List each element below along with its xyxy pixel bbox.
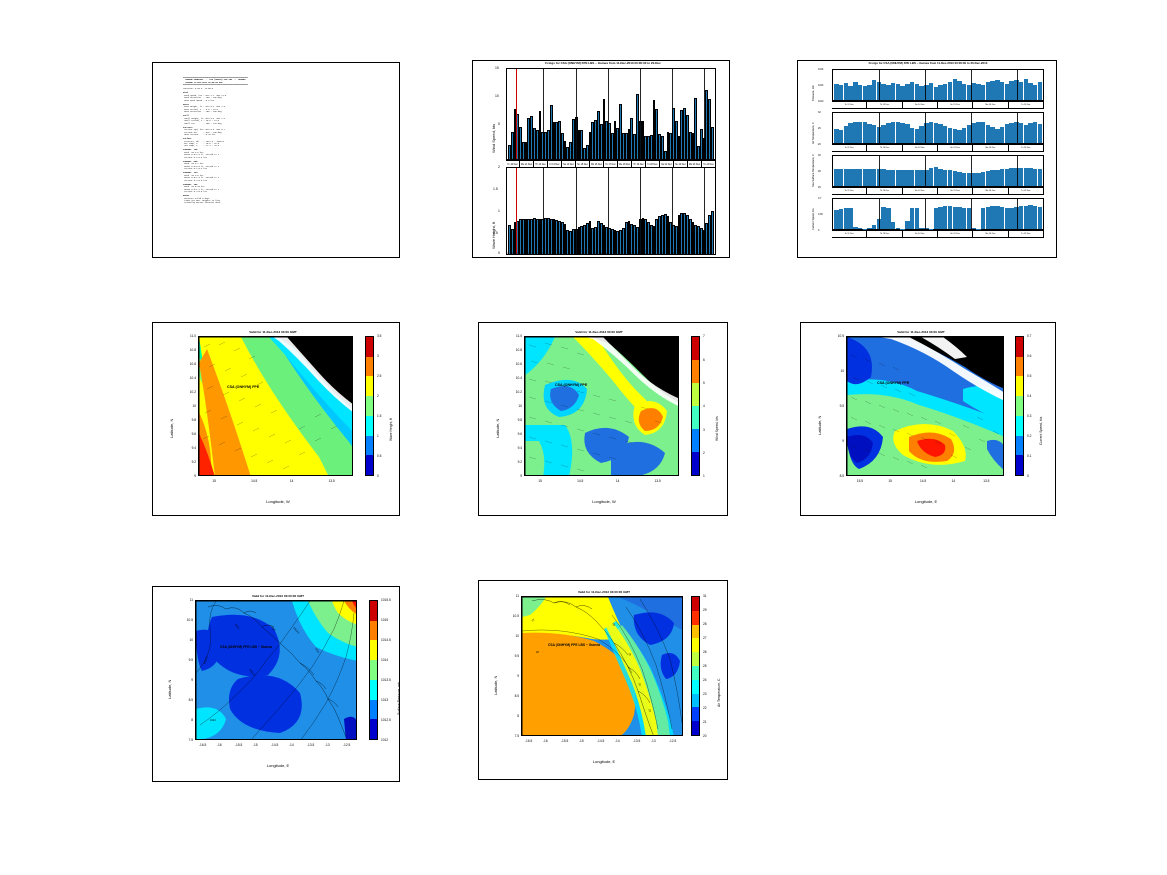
colorbar-tick: 25 — [703, 664, 707, 668]
ytick: 0 — [498, 251, 500, 255]
hour-tick: 12 — [512, 253, 514, 255]
hour-tick: 12 — [689, 253, 691, 255]
map-canvas: CSA (ONHYM) FPE — [846, 336, 1004, 476]
colorbar-tick: 31 — [703, 594, 707, 598]
map-ytick: 9.2 — [184, 460, 196, 464]
date-axis-strip: Tu 11 DecTh 13 DecSa 14 DecSu 15 DecMo 1… — [832, 187, 1044, 195]
date-tick: Tu 18 Dec — [1009, 188, 1044, 194]
colorbar-tick: 28 — [703, 622, 707, 626]
map-ylabel: Latitude, N — [493, 676, 498, 695]
report-section: Surface Pressure, mb : 1012.0 - 1015.5 A… — [183, 138, 393, 148]
map-xtick: -14.5 — [271, 743, 278, 747]
colorbar-segment — [692, 406, 699, 429]
colorbar-tick: 26 — [703, 650, 707, 654]
air-temperature-map-panel: Valid for 11-Dec-2013 03:00:00 GMT — [478, 580, 728, 780]
colorbar-tick: 1.5 — [377, 414, 381, 418]
subplot-ytick: 30 — [818, 154, 821, 157]
colorbar-tick: 1012.5 — [381, 718, 391, 722]
map-ytick: 9.6 — [510, 432, 522, 436]
day-divider — [1017, 156, 1018, 186]
map-xtick: -14.5 — [597, 739, 604, 743]
subplot-axes — [832, 155, 1044, 187]
wind-wave-timeseries-panel: Fcstgs for CSA (ONHYM) FPE LBS ~ Guinea … — [472, 60, 730, 258]
map-ytick: 9.4 — [184, 446, 196, 450]
contour-label: 26 — [536, 651, 539, 654]
text-report-panel: ========================================… — [152, 62, 400, 258]
map-xlabel: Longitude, E — [208, 763, 348, 768]
map-xtick: -13.5 — [633, 739, 640, 743]
map-ytick: 9.5 — [507, 654, 519, 658]
map-xtick: -15.5 — [561, 739, 568, 743]
colorbar-segment — [692, 625, 699, 639]
day-divider — [879, 113, 880, 143]
colorbar-segment — [692, 721, 699, 735]
site-marker-label: CSA (ONHYM) FPE — [555, 383, 587, 387]
colorbar-segment — [370, 660, 377, 680]
colorbar-segment — [692, 611, 699, 625]
hour-tick: 00 — [684, 253, 686, 255]
report-section: Currents Current Spd, kts: min 0.0 max 0… — [183, 127, 393, 137]
colorbar-segment — [1016, 436, 1023, 456]
date-tick: Mo 16 Dec — [973, 145, 1008, 151]
subplot-axes — [832, 112, 1044, 144]
bar — [711, 211, 714, 254]
colorbar-tick: 7 — [703, 334, 705, 338]
map-xtick: -16.5 — [525, 739, 532, 743]
colorbar-segment — [1016, 357, 1023, 377]
ytick: 15 — [495, 66, 499, 70]
wind-speed-ylabel: Wind Speed, kts — [491, 124, 496, 153]
map-xtick: 15 — [538, 479, 542, 483]
wave-height-colorbar — [365, 336, 374, 476]
day-divider — [971, 199, 972, 229]
bar — [711, 127, 714, 159]
bar — [848, 208, 852, 229]
surface-pressure-colorbar — [369, 600, 378, 740]
colorbar-tick: 20 — [703, 734, 707, 738]
map-ytick: 9 — [184, 474, 196, 478]
date-tick: Mo 16 Dec — [973, 102, 1008, 108]
hour-tick: 12 — [575, 253, 577, 255]
hour-tick: 00 — [705, 253, 707, 255]
date-tick: Tu 11 Dec — [832, 231, 867, 237]
date-axis-strip: Tu 11 DecTh 13 DecSa 14 DecSu 15 DecMo 1… — [832, 144, 1044, 152]
map-ytick: 11.0 — [184, 334, 196, 338]
map-ytick: 10.4 — [184, 376, 196, 380]
colorbar-tick: 4 — [703, 404, 705, 408]
map-ytick: 10 — [181, 638, 193, 642]
colorbar-segment — [692, 452, 699, 475]
colorbar-segment — [1016, 337, 1023, 357]
colorbar-segment — [366, 396, 373, 416]
ytick: 2 — [498, 165, 500, 169]
air-temperature-field — [522, 597, 683, 736]
subplot-bars — [833, 199, 1043, 229]
date-tick: Sa 14 Dec — [903, 145, 938, 151]
colorbar-tick: 1012 — [381, 738, 388, 742]
map-xtick: -16 — [543, 739, 548, 743]
date-tick: Tu 11 Dec — [832, 145, 867, 151]
map-canvas: CSA (ONHYM) FPE — [198, 336, 353, 476]
report-section-title: SUMMARY FRI — [183, 183, 197, 186]
report-section-title: NOTES — [183, 194, 189, 197]
map-xtick: -12.5 — [343, 743, 350, 747]
map-ytick: 8.5 — [832, 474, 844, 478]
map-ytick: 8 — [181, 718, 193, 722]
ytick: 1.5 — [493, 187, 498, 191]
hour-tick: 00 — [528, 253, 530, 255]
map-title: Valid for 11-Dec-2013 03:00:00 GMT — [193, 594, 363, 598]
air-temperature-colorbar — [691, 596, 700, 736]
map-ytick: 10 — [832, 369, 844, 373]
colorbar-tick: 1015.5 — [381, 598, 391, 602]
day-divider — [925, 156, 926, 186]
map-ytick: 10.2 — [184, 390, 196, 394]
map-ytick: 7.5 — [181, 738, 193, 742]
map-xtick: -14 — [615, 739, 620, 743]
map-ytick: 11.0 — [510, 334, 522, 338]
colorbar-tick: 24 — [703, 678, 707, 682]
day-divider — [608, 69, 609, 159]
surface-pressure-map-panel: Valid for 11-Dec-2013 03:00:00 GMT — [152, 586, 400, 782]
day-divider — [672, 69, 673, 159]
hour-tick: 00 — [559, 253, 561, 255]
site-marker-label: CSA (ONHYM) FPE LBS ~ Guinea — [548, 643, 600, 647]
colorbar-label: Air Temperature, C — [717, 679, 721, 707]
map-xlabel: Longitude, E — [861, 499, 991, 504]
map-title: Valid for 11-Dec-2013 03:00 GMT — [519, 330, 679, 334]
date-tick: Su 15 Dec — [938, 102, 973, 108]
subplot-axes — [832, 198, 1044, 230]
colorbar-segment — [692, 429, 699, 452]
day-divider — [640, 168, 641, 254]
colorbar-label: Wave Height, ft — [389, 418, 393, 441]
colorbar-segment — [692, 652, 699, 666]
hour-tick: 12 — [606, 253, 608, 255]
ytick: 1 — [498, 209, 500, 213]
report-section-title: Waves — [183, 103, 189, 106]
map-xtick: -14 — [289, 743, 294, 747]
colorbar-segment — [692, 638, 699, 652]
report-text: ========================================… — [183, 77, 393, 207]
day-divider — [608, 168, 609, 254]
map-ytick: 10.6 — [184, 362, 196, 366]
colorbar-segment — [366, 337, 373, 357]
colorbar-tick: 0 — [1027, 474, 1029, 478]
map-xtick: -13 — [651, 739, 656, 743]
colorbar-segment — [692, 597, 699, 611]
report-header: ========================================… — [183, 77, 393, 87]
wave-height-field — [199, 337, 353, 476]
map-xtick: 14 — [616, 479, 620, 483]
site-marker-label: CSA (ONHYM) FPE — [877, 381, 909, 385]
subplot-ylabel: Sea Surface Temperature, C — [812, 154, 815, 187]
current-speed-field — [847, 337, 1004, 476]
map-ytick: 10 — [510, 404, 522, 408]
subplot-ytick: 26 — [818, 186, 821, 189]
hour-tick: 00 — [663, 253, 665, 255]
report-subtitle: Location: 9.85 N 14.55 W — [183, 88, 393, 90]
colorbar-tick: 3.5 — [377, 334, 381, 338]
subplot-ytick: 1010 — [818, 100, 823, 103]
colorbar-tick: 1 — [703, 474, 705, 478]
date-tick: Tu 11 Dec — [832, 102, 867, 108]
map-ytick: 9 — [510, 474, 522, 478]
map-title: Valid for 11-Dec-2013 03:00 GMT — [841, 330, 1001, 334]
day-divider — [576, 168, 577, 254]
colorbar-tick: 1015 — [381, 618, 388, 622]
day-divider — [925, 199, 926, 229]
map-ytick: 9.6 — [184, 432, 196, 436]
hour-tick: 12 — [679, 253, 681, 255]
day-divider — [543, 168, 544, 254]
subplot-bars — [833, 70, 1043, 100]
map-title: Valid for 11-Dec-2013 03:00:00 GMT — [519, 590, 689, 594]
day-divider — [576, 69, 577, 159]
colorbar-tick: 3 — [703, 428, 705, 432]
colorbar-segment — [370, 719, 377, 739]
map-xtick: 15 — [212, 479, 216, 483]
map-xtick: 15 — [888, 479, 892, 483]
date-tick: Tu 18 Dec — [1009, 145, 1044, 151]
map-xtick: 14 — [290, 479, 294, 483]
map-xtick: -16.5 — [199, 743, 206, 747]
colorbar-tick: 0.7 — [1027, 334, 1031, 338]
wind-speed-field — [525, 337, 679, 476]
subplot-ytick: 1013 — [818, 84, 823, 87]
hour-tick: 00 — [694, 253, 696, 255]
ytick: 5 — [498, 122, 500, 126]
bar — [1038, 207, 1042, 229]
report-section-title: Currents — [183, 126, 193, 129]
day-divider — [704, 69, 705, 159]
subplot-ytick: 0 — [818, 229, 819, 232]
day-divider — [971, 113, 972, 143]
colorbar-tick: 29 — [703, 608, 707, 612]
colorbar-segment — [692, 383, 699, 406]
date-tick: Mo 16 Dec — [973, 231, 1008, 237]
day-divider — [879, 199, 880, 229]
colorbar-tick: 2 — [703, 451, 705, 455]
hour-tick: 12 — [523, 253, 525, 255]
colorbar-segment — [366, 436, 373, 456]
map-xtick: -16 — [217, 743, 222, 747]
four-panel-timeseries-panel: Fcstgs for CSA (ONHYM) FPE LBS ~ Guinea … — [797, 60, 1057, 258]
hour-tick: 12 — [564, 253, 566, 255]
day-divider — [1017, 70, 1018, 100]
report-section: Swell Swell Height, ft: min 0.3 max 1.4 … — [183, 115, 393, 125]
hour-tick: 00 — [642, 253, 644, 255]
map-xtick: 14.5 — [577, 479, 583, 483]
hour-tick: 00 — [601, 253, 603, 255]
colorbar-tick: 23 — [703, 692, 707, 696]
wind-speed-axes — [506, 68, 716, 160]
bar — [915, 208, 919, 229]
report-section: NOTES Forecast valid 5 days. Times are G… — [183, 195, 393, 205]
colorbar-tick: 5 — [703, 381, 705, 385]
map-ylabel: Latitude, N — [817, 416, 822, 435]
map-xtick: -15 — [579, 739, 584, 743]
colorbar-tick: 1013.5 — [381, 678, 391, 682]
map-ytick: 10.2 — [510, 390, 522, 394]
date-tick: Tu 18 Dec — [1009, 231, 1044, 237]
colorbar-segment — [370, 680, 377, 700]
hour-tick-labels: 0012001200120012001200120012001200120012… — [506, 255, 716, 258]
report-section-title: Wind — [183, 91, 188, 94]
colorbar-tick: 1013 — [381, 698, 388, 702]
date-tick: Su 15 Dec — [938, 231, 973, 237]
hour-tick: 00 — [549, 253, 551, 255]
map-ylabel: Latitude, N — [169, 419, 174, 438]
map-ytick: 11 — [507, 594, 519, 598]
map-xtick: 14.5 — [920, 479, 926, 483]
day-divider — [1017, 113, 1018, 143]
day-divider — [925, 70, 926, 100]
colorbar-label: Current Speed, kts — [1039, 417, 1043, 445]
hour-tick: 00 — [653, 253, 655, 255]
bar — [1038, 82, 1042, 100]
site-marker-label: CSA (ONHYM) FPE — [227, 385, 259, 389]
colorbar-tick: 0.2 — [1027, 434, 1031, 438]
colorbar-segment — [1016, 455, 1023, 475]
current-speed-colorbar — [1015, 336, 1024, 476]
site-marker-label: CSA (ONHYM) FPE LBS ~ Guinea — [220, 645, 272, 649]
subplot-ytick: 0.35 — [818, 213, 823, 216]
colorbar-tick: 0.1 — [1027, 454, 1031, 458]
colorbar-segment — [370, 621, 377, 641]
date-tick: Mo 16 Dec — [973, 188, 1008, 194]
hour-tick: 00 — [507, 253, 509, 255]
map-xtick: 14 — [952, 479, 956, 483]
colorbar-tick: 0.3 — [1027, 414, 1031, 418]
date-tick: Su 15 Dec — [938, 145, 973, 151]
hour-tick: 00 — [590, 253, 592, 255]
colorbar-segment — [1016, 376, 1023, 396]
report-section-title: Surface — [183, 137, 191, 140]
day-divider — [704, 168, 705, 254]
map-ytick: 8 — [507, 714, 519, 718]
report-section: SUMMARY THU Wind SW 4-9 kts Waves 0.5-1.… — [183, 172, 393, 182]
subplot-ytick: 32 — [818, 111, 821, 114]
hour-tick: 12 — [710, 253, 712, 255]
date-tick: Tu 18 Dec — [1009, 102, 1044, 108]
colorbar-tick: 0.4 — [1027, 394, 1031, 398]
colorbar-label: Wind Speed, kts — [715, 416, 719, 441]
colorbar-segment — [692, 707, 699, 721]
colorbar-tick: 2 — [377, 394, 379, 398]
map-ytick: 10.6 — [510, 362, 522, 366]
day-divider — [971, 70, 972, 100]
subplot-ytick: 20 — [818, 143, 821, 146]
report-section-title: Swell — [183, 114, 189, 117]
hour-tick: 12 — [533, 253, 535, 255]
map-ytick: 9 — [832, 439, 844, 443]
colorbar-label: Surface Pressure, mb — [397, 682, 400, 715]
colorbar-segment — [370, 700, 377, 720]
wind-speed-bars — [507, 69, 715, 159]
report-section: SUMMARY TUE Wind SW 4-8 kts Waves 0.5-1.… — [183, 149, 393, 159]
colorbar-segment — [692, 360, 699, 383]
date-tick: Th 13 Dec — [867, 231, 902, 237]
map-xtick: -12.5 — [669, 739, 676, 743]
day-divider — [879, 156, 880, 186]
colorbar-segment — [692, 337, 699, 360]
map-ytick: 10.8 — [510, 348, 522, 352]
day-divider — [879, 70, 880, 100]
day-divider — [971, 156, 972, 186]
colorbar-tick: 22 — [703, 706, 707, 710]
day-divider — [925, 113, 926, 143]
hour-tick: 12 — [658, 253, 660, 255]
map-ytick: 9.5 — [832, 404, 844, 408]
subplot-axes — [832, 69, 1044, 101]
colorbar-tick: 2.5 — [377, 374, 381, 378]
map-ytick: 8.5 — [507, 694, 519, 698]
map-ytick: 11 — [181, 598, 193, 602]
hour-tick: 12 — [627, 253, 629, 255]
hour-tick: 00 — [538, 253, 540, 255]
date-axis-strip: Tu 11 DecTh 13 DecSa 14 DecSu 15 DecMo 1… — [832, 230, 1044, 238]
report-section-title: SUMMARY THU — [183, 171, 197, 174]
colorbar-tick: 1014 — [381, 658, 388, 662]
colorbar-tick: 0.5 — [377, 454, 381, 458]
issue-time-line — [516, 69, 517, 159]
map-ytick: 9 — [507, 674, 519, 678]
map-xtick: 13.5 — [655, 479, 661, 483]
contour-label: 1012 — [210, 719, 216, 722]
map-title: Valid for 11-Dec-2013 03:00 GMT — [193, 330, 353, 334]
colorbar-segment — [366, 455, 373, 475]
map-ylabel: Latitude, N — [167, 680, 172, 699]
wave-height-map-panel: Valid for 11-Dec-2013 03:00 GMT — [152, 322, 400, 516]
colorbar-tick: 0.6 — [1027, 354, 1031, 358]
bar — [1038, 124, 1042, 144]
hour-tick: 12 — [637, 253, 639, 255]
report-section: SUMMARY FRI Wind SW 5-10 kts Waves 0.6-1… — [183, 184, 393, 194]
map-ytick: 10 — [507, 634, 519, 638]
map-xtick: -13 — [325, 743, 330, 747]
map-ytick: 9 — [181, 678, 193, 682]
map-xtick: -15 — [253, 743, 258, 747]
map-xtick: 13.5 — [983, 479, 989, 483]
map-ytick: 10.5 — [507, 614, 519, 618]
colorbar-segment — [692, 680, 699, 694]
colorbar-segment — [366, 416, 373, 436]
wave-height-ylabel: Wave Height, ft — [491, 222, 496, 249]
surface-pressure-field — [196, 601, 357, 740]
colorbar-segment — [1016, 416, 1023, 436]
colorbar-segment — [366, 376, 373, 396]
hour-tick: 00 — [580, 253, 582, 255]
colorbar-segment — [370, 601, 377, 621]
hour-tick: 12 — [585, 253, 587, 255]
map-ytick: 10 — [184, 404, 196, 408]
map-ytick: 8.5 — [181, 698, 193, 702]
map-ytick: 10.4 — [510, 376, 522, 380]
subplot-bars — [833, 113, 1043, 143]
hour-tick: 12 — [616, 253, 618, 255]
map-ytick: 9.8 — [184, 418, 196, 422]
colorbar-tick: 27 — [703, 636, 707, 640]
map-ytick: 9.2 — [510, 460, 522, 464]
colorbar-tick: 0.5 — [1027, 374, 1031, 378]
colorbar-tick: 6 — [703, 358, 705, 362]
map-ytick: 7.5 — [507, 734, 519, 738]
colorbar-segment — [370, 640, 377, 660]
map-ytick: 10.5 — [181, 618, 193, 622]
wind-speed-map-panel: Valid for 11-Dec-2013 03:00 GMT — [478, 322, 728, 516]
colorbar-tick: 1 — [377, 434, 379, 438]
